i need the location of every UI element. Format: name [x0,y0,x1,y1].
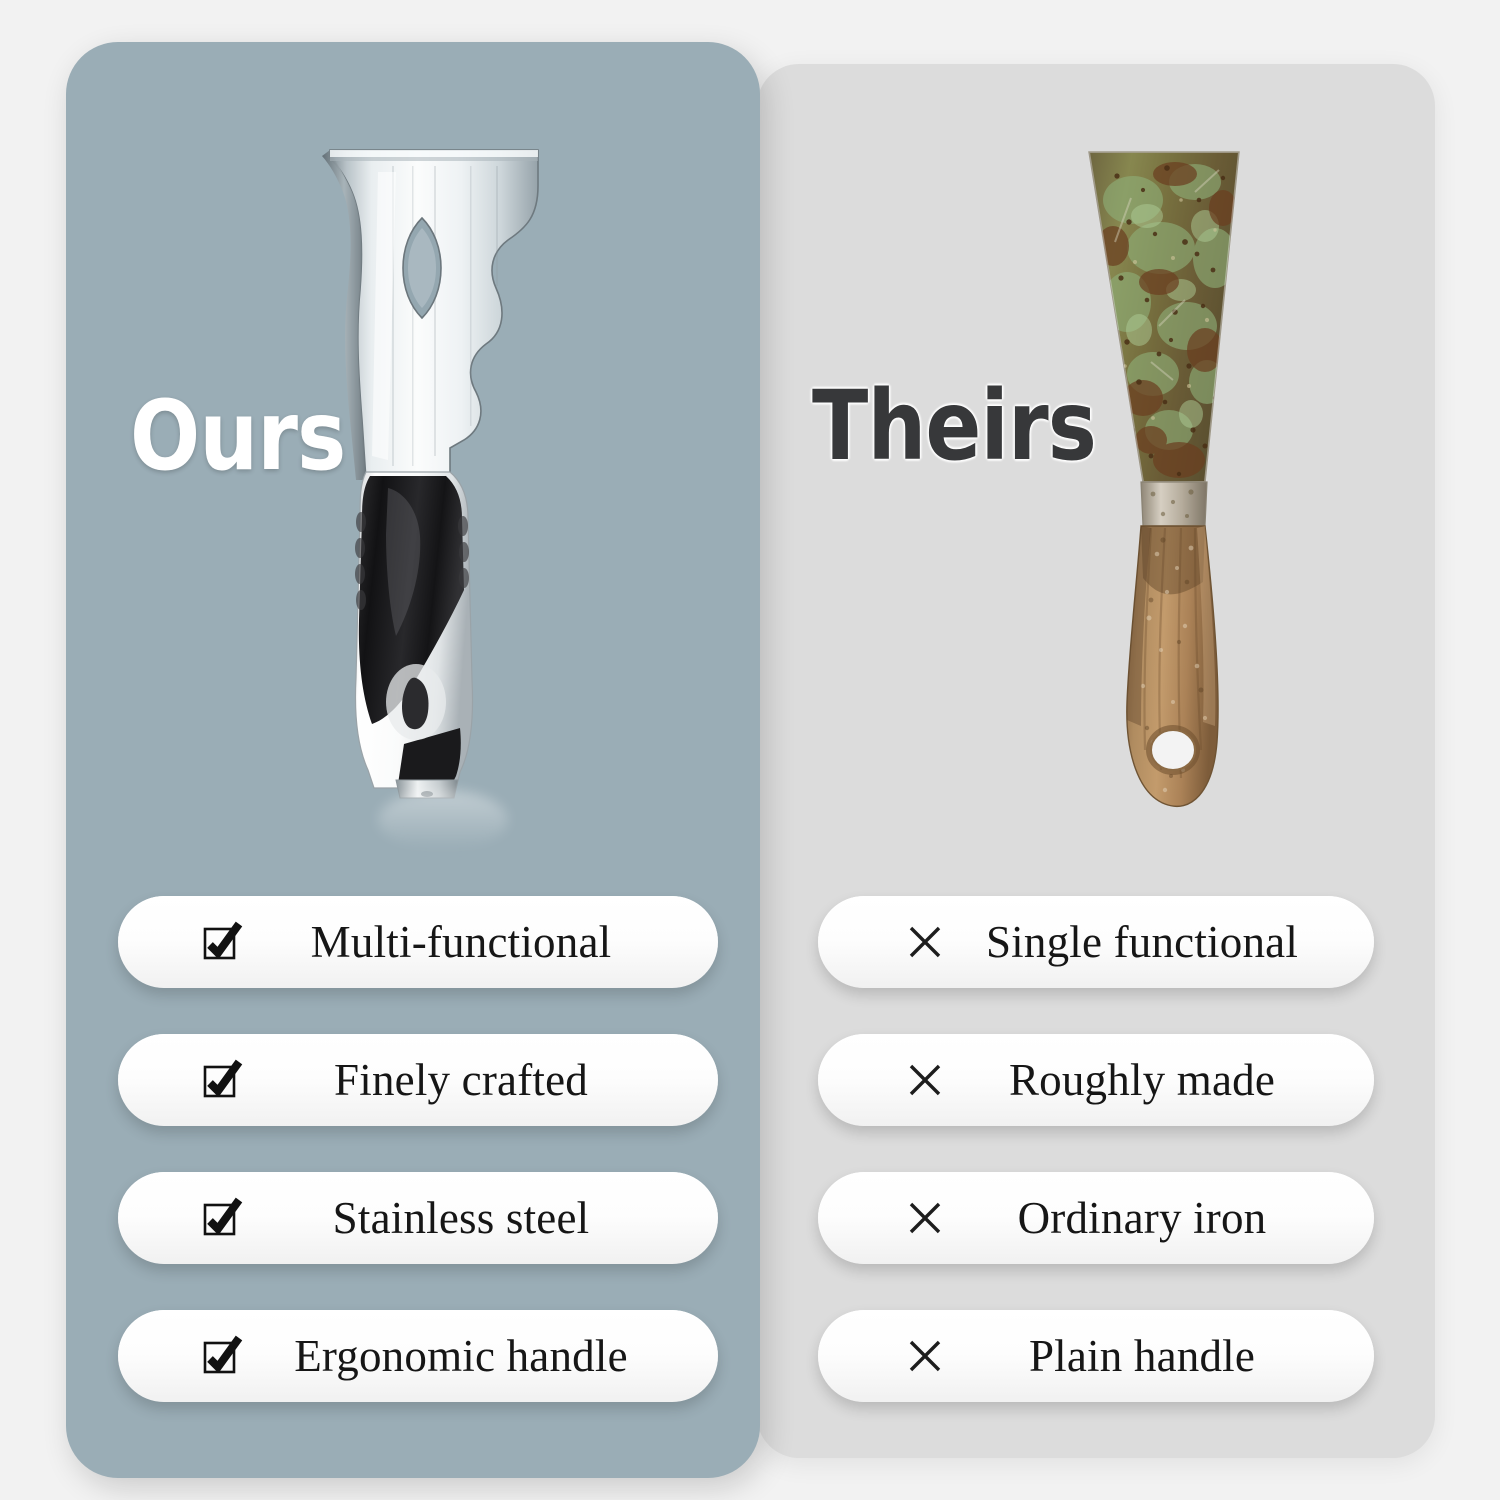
rusty-blade [1089,152,1239,482]
check-mark-icon [192,1334,250,1378]
ours-feature-list: Multi-functional Finely crafted Stainles… [118,896,718,1402]
ours-feature-item[interactable]: Stainless steel [118,1172,718,1264]
metal-ferrule [1141,482,1207,526]
ours-feature-label: Stainless steel [250,1192,718,1244]
check-mark-icon [192,1058,250,1102]
scraper-blade [322,150,538,480]
wooden-handle [1127,526,1218,806]
theirs-feature-list: Single functional Roughly made Ordinary … [818,896,1374,1402]
theirs-feature-item[interactable]: Single functional [818,896,1374,988]
ours-feature-label: Ergonomic handle [250,1330,718,1382]
ours-feature-label: Finely crafted [250,1054,718,1106]
ours-feature-item[interactable]: Multi-functional [118,896,718,988]
x-mark-icon [896,1196,954,1240]
ours-feature-item[interactable]: Finely crafted [118,1034,718,1126]
ours-product-reflection [378,790,508,850]
theirs-feature-label: Plain handle [954,1330,1374,1382]
check-mark-icon [192,920,250,964]
x-mark-icon [896,920,954,964]
ours-heading: Ours [130,388,345,484]
theirs-feature-item[interactable]: Roughly made [818,1034,1374,1126]
theirs-feature-label: Single functional [954,916,1374,968]
theirs-feature-label: Roughly made [954,1054,1374,1106]
check-mark-icon [192,1196,250,1240]
x-mark-icon [896,1334,954,1378]
comparison-graphic: Ours Theirs Multi-functional Finely craf… [0,0,1500,1500]
theirs-feature-item[interactable]: Plain handle [818,1310,1374,1402]
x-mark-icon [896,1058,954,1102]
theirs-heading: Theirs [812,378,1096,474]
ours-feature-item[interactable]: Ergonomic handle [118,1310,718,1402]
theirs-feature-item[interactable]: Ordinary iron [818,1172,1374,1264]
scraper-handle [355,472,473,798]
ours-feature-label: Multi-functional [250,916,718,968]
theirs-feature-label: Ordinary iron [954,1192,1374,1244]
